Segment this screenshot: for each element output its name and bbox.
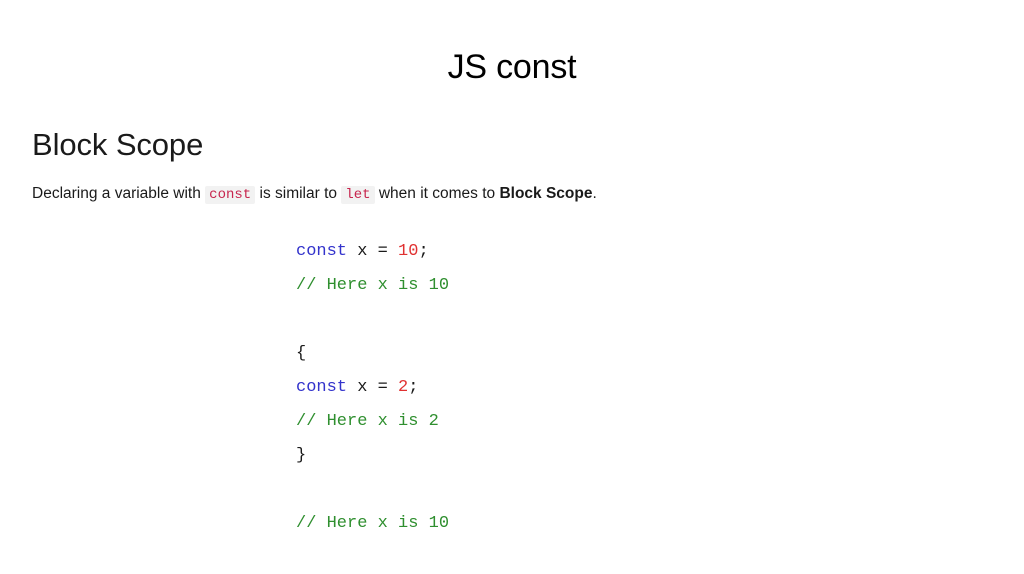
- code-line: // Here x is 10: [296, 507, 449, 541]
- code-token-punct: ;: [418, 242, 428, 261]
- code-token-comment: // Here x is 10: [296, 276, 449, 295]
- code-token-comment: // Here x is 2: [296, 412, 439, 431]
- code-token-plain: x =: [347, 242, 398, 261]
- code-token-plain: x =: [347, 378, 398, 397]
- inline-code-const: const: [205, 186, 255, 204]
- description-text-part4: .: [592, 185, 596, 202]
- description-paragraph: Declaring a variable with const is simil…: [32, 183, 972, 205]
- description-text-part1: Declaring a variable with: [32, 185, 205, 202]
- code-line-blank: [296, 303, 449, 337]
- code-token-number: 2: [398, 378, 408, 397]
- code-token-keyword: const: [296, 242, 347, 261]
- code-token-punct: {: [296, 344, 306, 363]
- inline-code-let: let: [341, 186, 374, 204]
- code-token-keyword: const: [296, 378, 347, 397]
- code-line: const x = 10;: [296, 235, 449, 269]
- code-token-number: 10: [398, 242, 418, 261]
- code-line: // Here x is 10: [296, 269, 449, 303]
- description-text-part3: when it comes to: [375, 185, 500, 202]
- section-heading: Block Scope: [32, 126, 203, 165]
- code-line: {: [296, 337, 449, 371]
- code-token-punct: }: [296, 446, 306, 465]
- code-line-blank: [296, 473, 449, 507]
- code-block: const x = 10;// Here x is 10 {const x = …: [296, 235, 449, 541]
- description-text-part2: is similar to: [255, 185, 341, 202]
- code-line: const x = 2;: [296, 371, 449, 405]
- code-line: }: [296, 439, 449, 473]
- description-bold-block-scope: Block Scope: [499, 185, 592, 202]
- code-token-comment: // Here x is 10: [296, 514, 449, 533]
- page-title: JS const: [0, 47, 1024, 88]
- code-token-punct: ;: [408, 378, 418, 397]
- code-line: // Here x is 2: [296, 405, 449, 439]
- slide-canvas: JS const Block Scope Declaring a variabl…: [0, 0, 1024, 574]
